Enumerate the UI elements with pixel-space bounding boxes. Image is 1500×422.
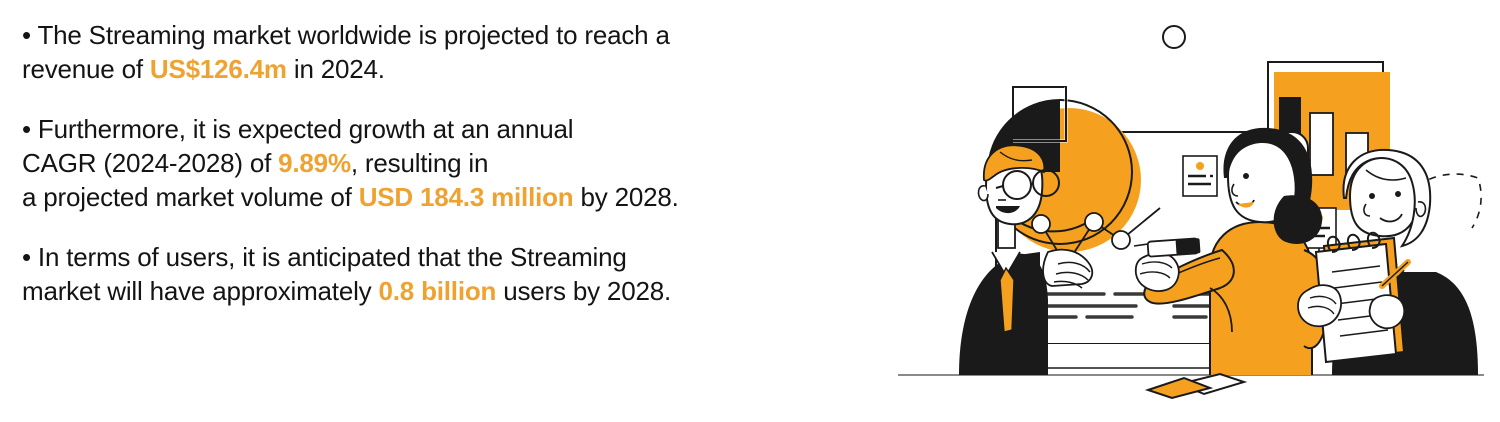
statistics-text-column: • The Streaming market worldwide is proj… — [22, 18, 872, 408]
highlighted-stat: USD 184.3 million — [359, 182, 574, 212]
text-run: users by 2028. — [496, 276, 671, 306]
bullet-cagr-growth: • Furthermore, it is expected growth at … — [22, 112, 872, 214]
note-card-upper — [1183, 156, 1217, 196]
scattered-papers — [1148, 374, 1244, 398]
bullet-user-projection: • In terms of users, it is anticipated t… — [22, 240, 872, 308]
highlighted-stat: 9.89% — [278, 148, 351, 178]
text-run: by 2028. — [574, 182, 679, 212]
text-run: in 2024. — [287, 54, 385, 84]
highlighted-stat: 0.8 billion — [379, 276, 497, 306]
highlighted-stat: US$126.4m — [150, 54, 287, 84]
infographic-page: • The Streaming market worldwide is proj… — [0, 0, 1500, 422]
arc-apex-circle-icon — [1163, 26, 1185, 48]
right-notetaker-hand — [1298, 285, 1341, 326]
analytics-team-illustration — [880, 0, 1500, 422]
pointer-hand — [1136, 253, 1179, 291]
bullet-revenue-projection: • The Streaming market worldwide is proj… — [22, 18, 872, 86]
